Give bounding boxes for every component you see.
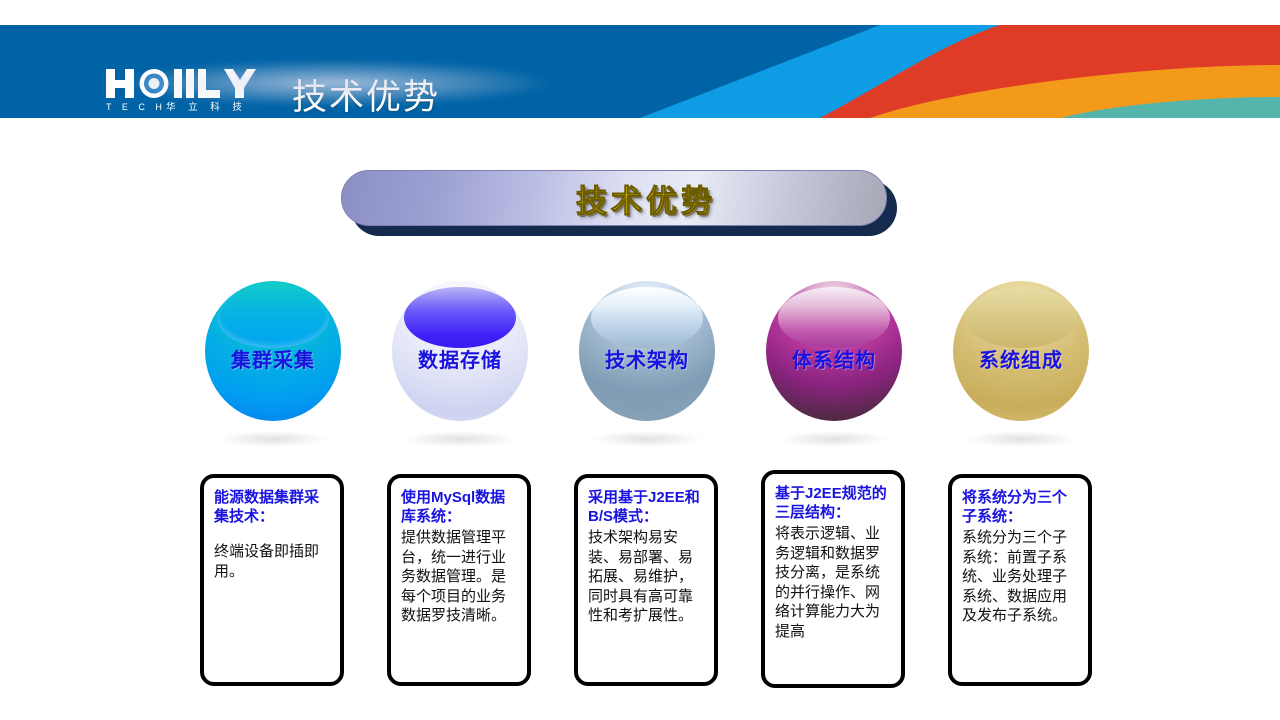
sphere-ground-shadow bbox=[405, 431, 515, 447]
sphere-item-5[interactable]: 系统组成 bbox=[926, 281, 1116, 456]
card-heading: 采用基于J2EE和B/S模式： bbox=[588, 488, 706, 526]
sphere-ground-shadow bbox=[779, 431, 889, 447]
sphere-highlight-cap bbox=[778, 287, 890, 349]
sphere-item-2[interactable]: 数据存储 bbox=[365, 281, 555, 456]
sphere-icon-data-storage[interactable]: 数据存储 bbox=[392, 281, 528, 421]
card-heading: 基于J2EE规范的三层结构： bbox=[775, 484, 893, 522]
sphere-label: 技术架构 bbox=[605, 344, 689, 373]
sphere-item-3[interactable]: 技术架构 bbox=[552, 281, 742, 456]
card-body: 技术架构易安装、易部署、易拓展、易维护，同时具有高可靠性和考扩展性。 bbox=[588, 528, 706, 626]
info-card-1[interactable]: 能源数据集群采集技术： 终端设备即插即用。 bbox=[200, 474, 344, 686]
sphere-highlight-cap bbox=[404, 287, 516, 349]
banner-label: 技术优势 bbox=[576, 176, 716, 221]
sphere-icon-system-structure[interactable]: 体系结构 bbox=[766, 281, 902, 421]
info-card-2[interactable]: 使用MySql数据库系统： 提供数据管理平台，统一进行业务数据管理。是每个项目的… bbox=[387, 474, 531, 686]
sphere-ground-shadow bbox=[218, 431, 328, 447]
card-heading: 将系统分为三个子系统： bbox=[962, 488, 1080, 526]
sphere-ground-shadow bbox=[592, 431, 702, 447]
banner-pill: 技术优势 bbox=[341, 170, 887, 226]
title-banner: 技术优势 bbox=[341, 170, 897, 236]
sphere-row: 集群采集 数据存储 技术架构 体系结构 系统组成 bbox=[0, 281, 1280, 456]
sphere-icon-tech-architecture[interactable]: 技术架构 bbox=[579, 281, 715, 421]
sphere-highlight-cap bbox=[591, 287, 703, 349]
sphere-label: 数据存储 bbox=[418, 344, 502, 373]
sphere-label: 系统组成 bbox=[979, 344, 1063, 373]
card-body: 终端设备即插即用。 bbox=[214, 542, 332, 581]
info-card-5[interactable]: 将系统分为三个子系统： 系统分为三个子系统：前置子系统、业务处理子系统、数据应用… bbox=[948, 474, 1092, 686]
card-heading: 使用MySql数据库系统： bbox=[401, 488, 519, 526]
sphere-highlight-cap bbox=[217, 287, 329, 349]
card-row: 能源数据集群采集技术： 终端设备即插即用。 使用MySql数据库系统： 提供数据… bbox=[0, 474, 1280, 686]
info-card-4[interactable]: 基于J2EE规范的三层结构： 将表示逻辑、业务逻辑和数据罗技分离，是系统的并行操… bbox=[761, 470, 905, 688]
sphere-label: 体系结构 bbox=[792, 344, 876, 373]
card-body: 提供数据管理平台，统一进行业务数据管理。是每个项目的业务数据罗技清晰。 bbox=[401, 528, 519, 626]
info-card-3[interactable]: 采用基于J2EE和B/S模式： 技术架构易安装、易部署、易拓展、易维护，同时具有… bbox=[574, 474, 718, 686]
sphere-ground-shadow bbox=[966, 431, 1076, 447]
card-heading: 能源数据集群采集技术： bbox=[214, 488, 332, 526]
sphere-icon-system-composition[interactable]: 系统组成 bbox=[953, 281, 1089, 421]
banner-glow bbox=[120, 60, 550, 106]
card-body: 系统分为三个子系统：前置子系统、业务处理子系统、数据应用及发布子系统。 bbox=[962, 528, 1080, 626]
sphere-icon-cluster-collection[interactable]: 集群采集 bbox=[205, 281, 341, 421]
sphere-highlight-cap bbox=[965, 287, 1077, 349]
sphere-item-1[interactable]: 集群采集 bbox=[178, 281, 368, 456]
card-body: 将表示逻辑、业务逻辑和数据罗技分离，是系统的并行操作、网络计算能力大为提高 bbox=[775, 524, 893, 641]
sphere-label: 集群采集 bbox=[231, 344, 315, 373]
sphere-item-4[interactable]: 体系结构 bbox=[739, 281, 929, 456]
